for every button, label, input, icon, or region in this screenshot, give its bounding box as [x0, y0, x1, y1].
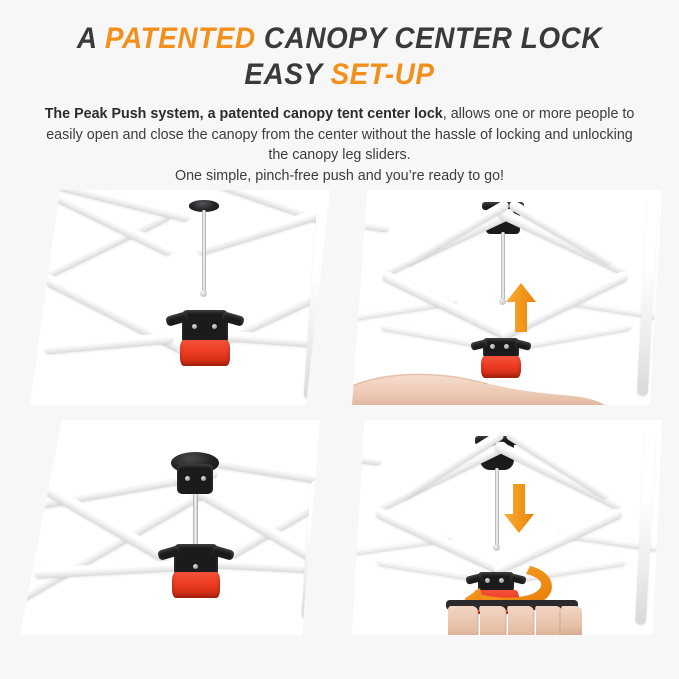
frame-bar: [352, 213, 390, 233]
hub-bolt: [192, 324, 197, 329]
title-accent-patented: PATENTED: [105, 22, 256, 55]
panel-top-right: [352, 190, 662, 405]
panel-top-left-canvas: [30, 190, 330, 405]
frame-bar: [496, 207, 628, 276]
frame-bar: [34, 560, 184, 579]
title-text-a: A: [77, 22, 105, 55]
hub-bolt: [185, 476, 190, 481]
arrow-up-icon: [504, 282, 538, 334]
push-rod-tip: [200, 290, 207, 297]
hand-supporting-lock: [352, 352, 610, 405]
push-rod-tip: [493, 544, 500, 551]
page-title-line-1: A PATENTED CANOPY CENTER LOCK: [24, 0, 655, 56]
description-paragraph: The Peak Push system, a patented canopy …: [0, 92, 679, 186]
panel-top-left: [30, 190, 330, 405]
frame-bar: [507, 199, 614, 267]
panel-grid: [0, 180, 679, 679]
product-feature-graphic: A PATENTED CANOPY CENTER LOCK EASY SET-U…: [0, 0, 679, 679]
hub-bolt: [212, 324, 217, 329]
header-section: A PATENTED CANOPY CENTER LOCK EASY SET-U…: [0, 0, 679, 180]
frame-bar: [196, 202, 330, 256]
title-accent-setup: SET-UP: [330, 58, 434, 91]
panel-bottom-right-canvas: [352, 420, 662, 635]
center-lock-hub: [182, 310, 228, 344]
title-text-canopy-center-lock: CANOPY CENTER LOCK: [256, 22, 602, 55]
arrow-down-icon: [502, 482, 536, 534]
frame-leg: [635, 430, 656, 625]
push-rod: [202, 210, 206, 295]
frame-bar: [44, 332, 174, 354]
hub-bolt: [193, 564, 198, 569]
panel-bottom-left: [20, 420, 320, 635]
page-title-line-2: EASY SET-UP: [24, 56, 655, 92]
push-rod: [193, 494, 198, 549]
hub-bolt: [490, 344, 495, 349]
frame-bar: [352, 448, 382, 466]
lock-upper-housing: [177, 464, 213, 494]
center-lock-red-collar: [172, 572, 220, 598]
panel-bottom-right: [352, 420, 662, 635]
panel-bottom-left-canvas: [20, 420, 320, 635]
frame-leg: [637, 196, 658, 396]
hands-gripping-lock: [438, 598, 588, 635]
hub-bolt: [201, 476, 206, 481]
hub-bolt: [504, 344, 509, 349]
title-text-easy: EASY: [244, 58, 330, 91]
description-strong-phrase: The Peak Push system, a patented canopy …: [45, 106, 443, 122]
center-lock-red-collar: [180, 340, 230, 366]
push-rod: [495, 468, 499, 548]
panel-top-right-canvas: [352, 190, 662, 405]
